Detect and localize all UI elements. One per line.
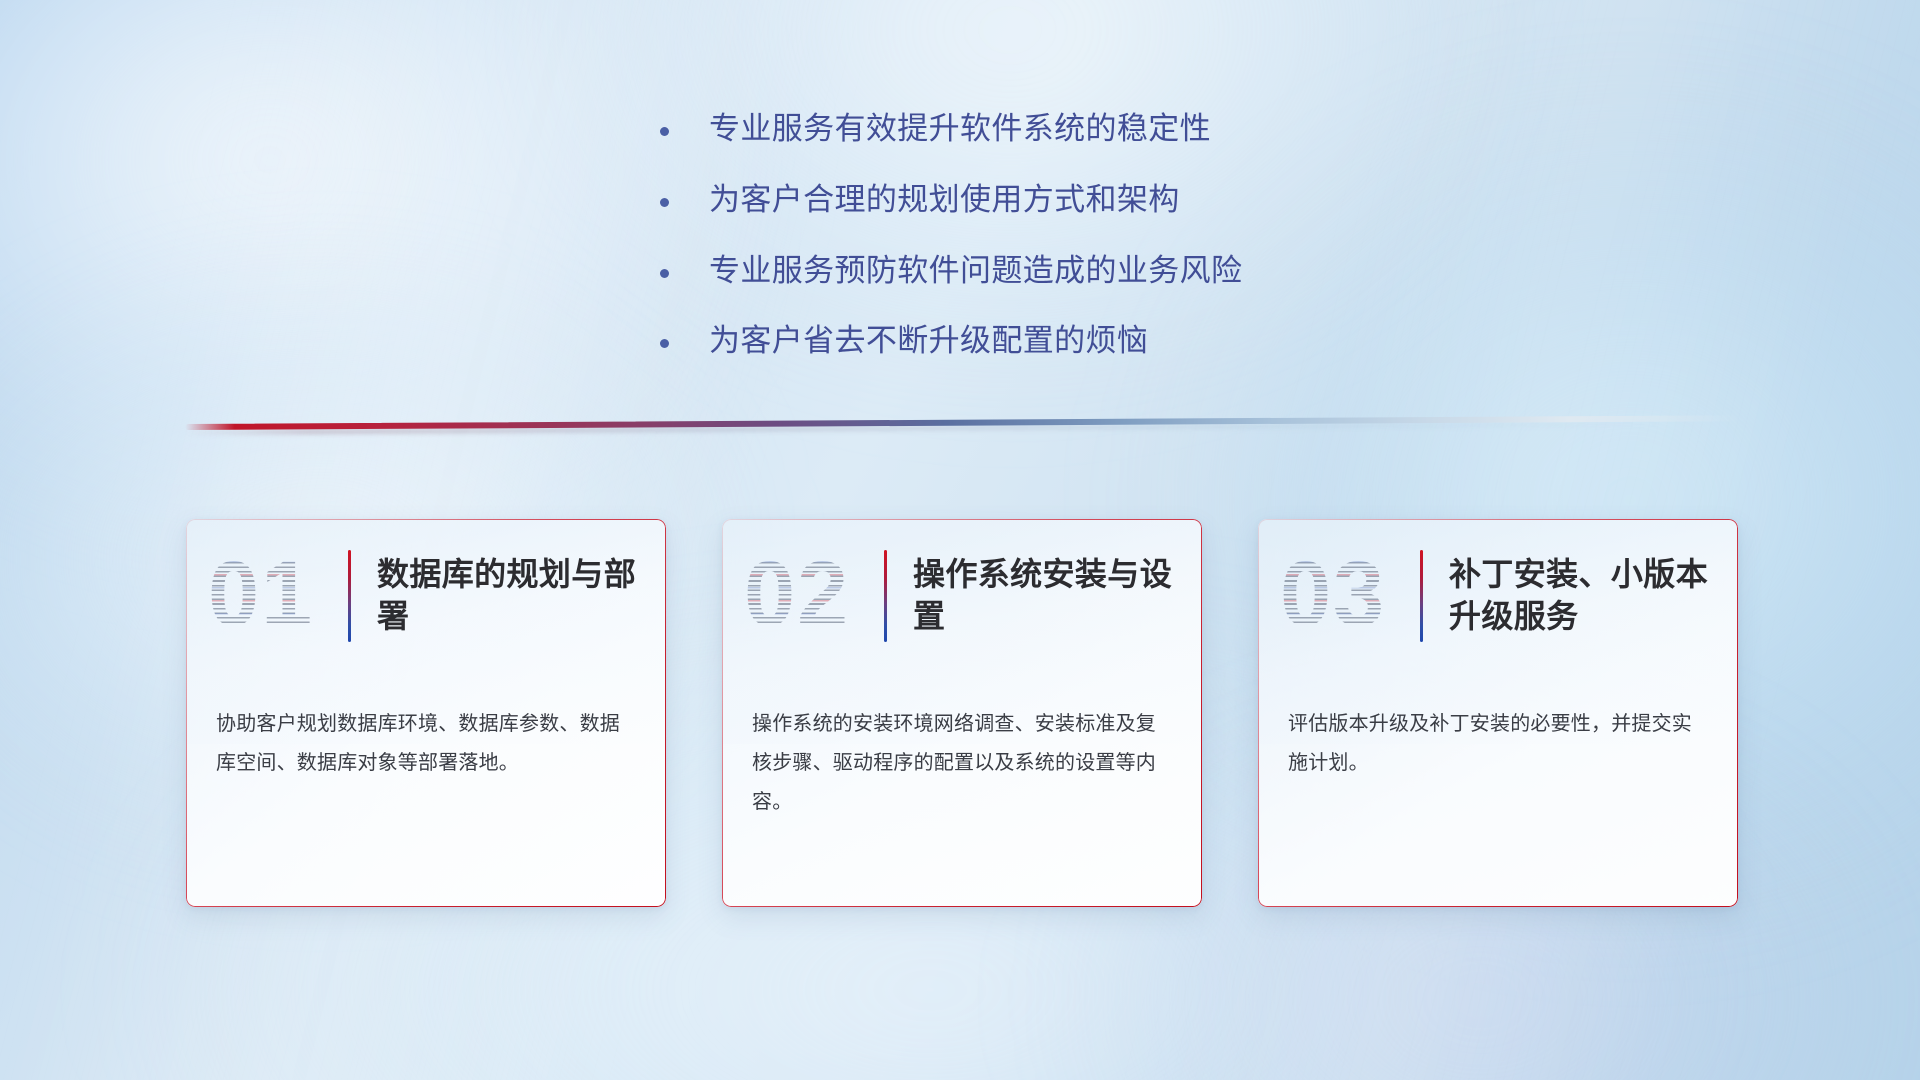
- card-header: 02 操作系统安装与设置: [722, 519, 1202, 667]
- card-accent-rule: [884, 550, 887, 642]
- list-item: 专业服务预防软件问题造成的业务风险: [660, 250, 1440, 293]
- card-accent-rule: [1420, 550, 1423, 642]
- card-title: 操作系统安装与设置: [913, 554, 1202, 637]
- bullet-dot-icon: [660, 339, 669, 348]
- bullet-dot-icon: [660, 198, 669, 207]
- card-title: 数据库的规划与部署: [377, 554, 666, 637]
- card-body-text: 评估版本升级及补丁安装的必要性，并提交实施计划。: [1258, 667, 1738, 783]
- card-number-watermark: 03: [1280, 548, 1416, 640]
- bullet-dot-icon: [660, 127, 669, 136]
- bullet-text: 专业服务有效提升软件系统的稳定性: [709, 108, 1211, 151]
- card-accent-rule: [348, 550, 351, 642]
- list-item: 专业服务有效提升软件系统的稳定性: [660, 108, 1440, 151]
- card-body-text: 操作系统的安装环境网络调查、安装标准及复核步骤、驱动程序的配置以及系统的设置等内…: [722, 667, 1202, 822]
- bullet-text: 为客户合理的规划使用方式和架构: [709, 179, 1180, 222]
- card-number-watermark: 02: [744, 548, 880, 640]
- bullet-text: 专业服务预防软件问题造成的业务风险: [709, 250, 1242, 293]
- card-header: 03 补丁安装、小版本升级服务: [1258, 519, 1738, 667]
- card-row: 01 数据库的规划与部署 协助客户规划数据库环境、数据库参数、数据库空间、数据库…: [186, 519, 1738, 907]
- card-03[interactable]: 03 补丁安装、小版本升级服务 评估版本升级及补丁安装的必要性，并提交实施计划。: [1258, 519, 1738, 907]
- card-title: 补丁安装、小版本升级服务: [1449, 554, 1738, 637]
- list-item: 为客户省去不断升级配置的烦恼: [660, 320, 1440, 363]
- card-02[interactable]: 02 操作系统安装与设置 操作系统的安装环境网络调查、安装标准及复核步骤、驱动程…: [722, 519, 1202, 907]
- bullet-text: 为客户省去不断升级配置的烦恼: [709, 320, 1148, 363]
- list-item: 为客户合理的规划使用方式和架构: [660, 179, 1440, 222]
- card-01[interactable]: 01 数据库的规划与部署 协助客户规划数据库环境、数据库参数、数据库空间、数据库…: [186, 519, 666, 907]
- bullet-dot-icon: [660, 269, 669, 278]
- bullet-list: 专业服务有效提升软件系统的稳定性 为客户合理的规划使用方式和架构 专业服务预防软…: [660, 108, 1440, 363]
- card-header: 01 数据库的规划与部署: [186, 519, 666, 667]
- card-body-text: 协助客户规划数据库环境、数据库参数、数据库空间、数据库对象等部署落地。: [186, 667, 666, 783]
- section-divider: [185, 424, 1740, 438]
- card-number-watermark: 01: [208, 548, 344, 640]
